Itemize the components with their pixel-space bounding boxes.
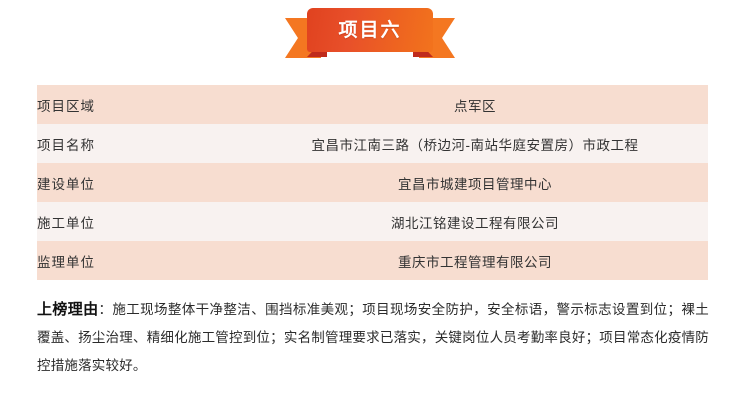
banner-title: 项目六 [338,21,401,40]
banner-container: 项目六 [0,0,740,72]
ribbon-banner: 项目六 [285,8,455,66]
row-value-contractor: 湖北江铭建设工程有限公司 [242,202,708,241]
reason-text: 施工现场整体干净整洁、围挡标准美观；项目现场安全防护，安全标语，警示标志设置到位… [37,302,709,373]
reason-paragraph: 上榜理由：施工现场整体干净整洁、围挡标准美观；项目现场安全防护，安全标语，警示标… [37,296,709,380]
project-info-table: 项目区域 点军区 项目名称 宜昌市江南三路（桥边河-南站华庭安置房）市政工程 建… [37,85,708,280]
table-row: 项目区域 点军区 [37,85,708,124]
row-value-project-name: 宜昌市江南三路（桥边河-南站华庭安置房）市政工程 [242,124,708,163]
reason-label: 上榜理由 [37,301,99,318]
row-label-project-area: 项目区域 [37,85,242,124]
row-value-project-area: 点军区 [242,85,708,124]
table-row: 建设单位 宜昌市城建项目管理中心 [37,163,708,202]
table-row: 监理单位 重庆市工程管理有限公司 [37,241,708,280]
table-row: 施工单位 湖北江铭建设工程有限公司 [37,202,708,241]
row-label-contractor: 施工单位 [37,202,242,241]
table-row: 项目名称 宜昌市江南三路（桥边河-南站华庭安置房）市政工程 [37,124,708,163]
reason-separator: ： [99,302,113,317]
row-value-construction-owner: 宜昌市城建项目管理中心 [242,163,708,202]
table-body: 项目区域 点军区 项目名称 宜昌市江南三路（桥边河-南站华庭安置房）市政工程 建… [37,85,708,280]
ribbon-body: 项目六 [307,8,433,52]
row-value-supervisor: 重庆市工程管理有限公司 [242,241,708,280]
row-label-construction-owner: 建设单位 [37,163,242,202]
row-label-supervisor: 监理单位 [37,241,242,280]
row-label-project-name: 项目名称 [37,124,242,163]
